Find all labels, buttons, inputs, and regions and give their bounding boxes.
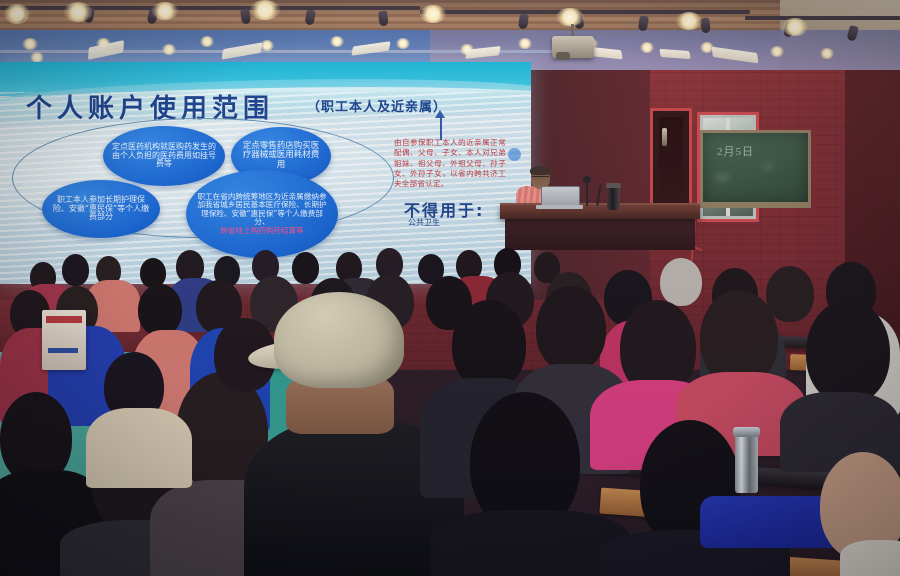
podium-thermos-cap xyxy=(606,183,621,188)
slide-bubble-3-text: 职工本人参加长期护理保险、安徽“惠民保”等个人缴费部分 xyxy=(42,196,160,223)
ceiling-bulb xyxy=(4,4,30,24)
downlight xyxy=(330,36,344,47)
auditorium-photo: 2月5日 个人账户使用范围 （职工本人及近亲属） 定点医药机构就医购药发生的由个… xyxy=(0,0,900,576)
light-track-right xyxy=(745,16,900,20)
downlight xyxy=(820,48,834,59)
slide-bubble-3: 职工本人参加长期护理保险、安徽“惠民保”等个人缴费部分 xyxy=(42,180,160,238)
audience-head xyxy=(806,300,890,404)
slide-arrow-shaft-icon xyxy=(440,114,442,140)
laptop-base xyxy=(536,205,583,209)
slide-not-for-subtext: 公共卫生 xyxy=(408,218,440,228)
audience-head xyxy=(138,284,182,336)
downlight xyxy=(396,38,410,49)
downlight xyxy=(640,42,654,53)
downlight xyxy=(770,46,784,57)
chalk-smudge xyxy=(761,163,775,170)
microphone-stand xyxy=(586,180,588,206)
microphone-head xyxy=(583,176,591,183)
bench-thermos-cap xyxy=(733,427,760,437)
tote-bag-logo xyxy=(48,348,78,353)
spotlight-fixture xyxy=(378,11,389,27)
audience-head xyxy=(452,300,526,390)
chalk-tray xyxy=(697,202,809,206)
podium-thermos xyxy=(607,186,620,210)
downlight xyxy=(162,44,176,55)
door-light-fixture xyxy=(662,128,667,146)
ceiling-bulb xyxy=(64,2,92,22)
slide-title-parenthetical: （职工本人及近亲属） xyxy=(307,96,447,115)
downlight xyxy=(200,36,214,47)
audience-torso-knit xyxy=(86,408,192,488)
slide-bubble-1-text: 定点医药机构就医购药发生的由个人负担的医药费用如挂号费等 xyxy=(103,143,225,170)
ceiling-bulb xyxy=(152,2,178,20)
podium-desk xyxy=(500,205,700,219)
slide-bubble-4-highlight: 跨省线上购药购药结算等 xyxy=(212,227,312,236)
baseball-cap xyxy=(274,292,404,388)
ceiling-bulb xyxy=(420,5,446,23)
presenter-hair xyxy=(530,166,551,175)
chalk-smudge xyxy=(713,173,731,182)
projector-lens xyxy=(556,52,570,60)
downlight xyxy=(260,40,274,51)
audience-shoulder xyxy=(840,540,900,576)
tote-bag-stripe xyxy=(46,316,82,323)
light-track-center xyxy=(420,10,750,14)
audience-head xyxy=(536,286,606,372)
light-track-left xyxy=(0,6,420,10)
audience-head xyxy=(766,266,814,322)
slide-bubble-1: 定点医药机构就医购药发生的由个人负担的医药费用如挂号费等 xyxy=(103,126,225,186)
downlight xyxy=(22,38,38,50)
slide-red-annotation: 由自参保职工本人的近亲属正常配偶、父母、子女、本人对兄弟姐妹、祖父母、外祖父母、… xyxy=(394,138,506,190)
slide-bubble-4-text: 职工在省内跨统筹地区为近亲属缴纳参加我省城乡居民基本医疗保险、长期护理保险、安徽… xyxy=(186,193,338,227)
slide-bubble-4: 职工在省内跨统筹地区为近亲属缴纳参加我省城乡居民基本医疗保险、长期护理保险、安徽… xyxy=(186,170,338,258)
ceiling-bulb xyxy=(250,0,280,20)
downlight xyxy=(518,38,532,49)
bench-thermos xyxy=(735,433,758,493)
presenter-glasses xyxy=(532,176,549,181)
slide-logo-icon xyxy=(508,148,521,161)
ceiling-bulb xyxy=(676,12,702,30)
slide-bubble-2-text: 定点零售药店购买医疗器械或医用耗材费用 xyxy=(231,142,331,171)
chalkboard-text: 2月5日 xyxy=(717,143,754,159)
ceiling-bulb xyxy=(782,18,808,36)
audience-head-grey-hair xyxy=(660,258,702,306)
chalkboard: 2月5日 xyxy=(700,130,811,208)
ceiling-bulb xyxy=(556,8,584,26)
stage-front-panel xyxy=(505,214,695,250)
audience-head xyxy=(292,252,319,284)
audience-head xyxy=(62,254,89,286)
